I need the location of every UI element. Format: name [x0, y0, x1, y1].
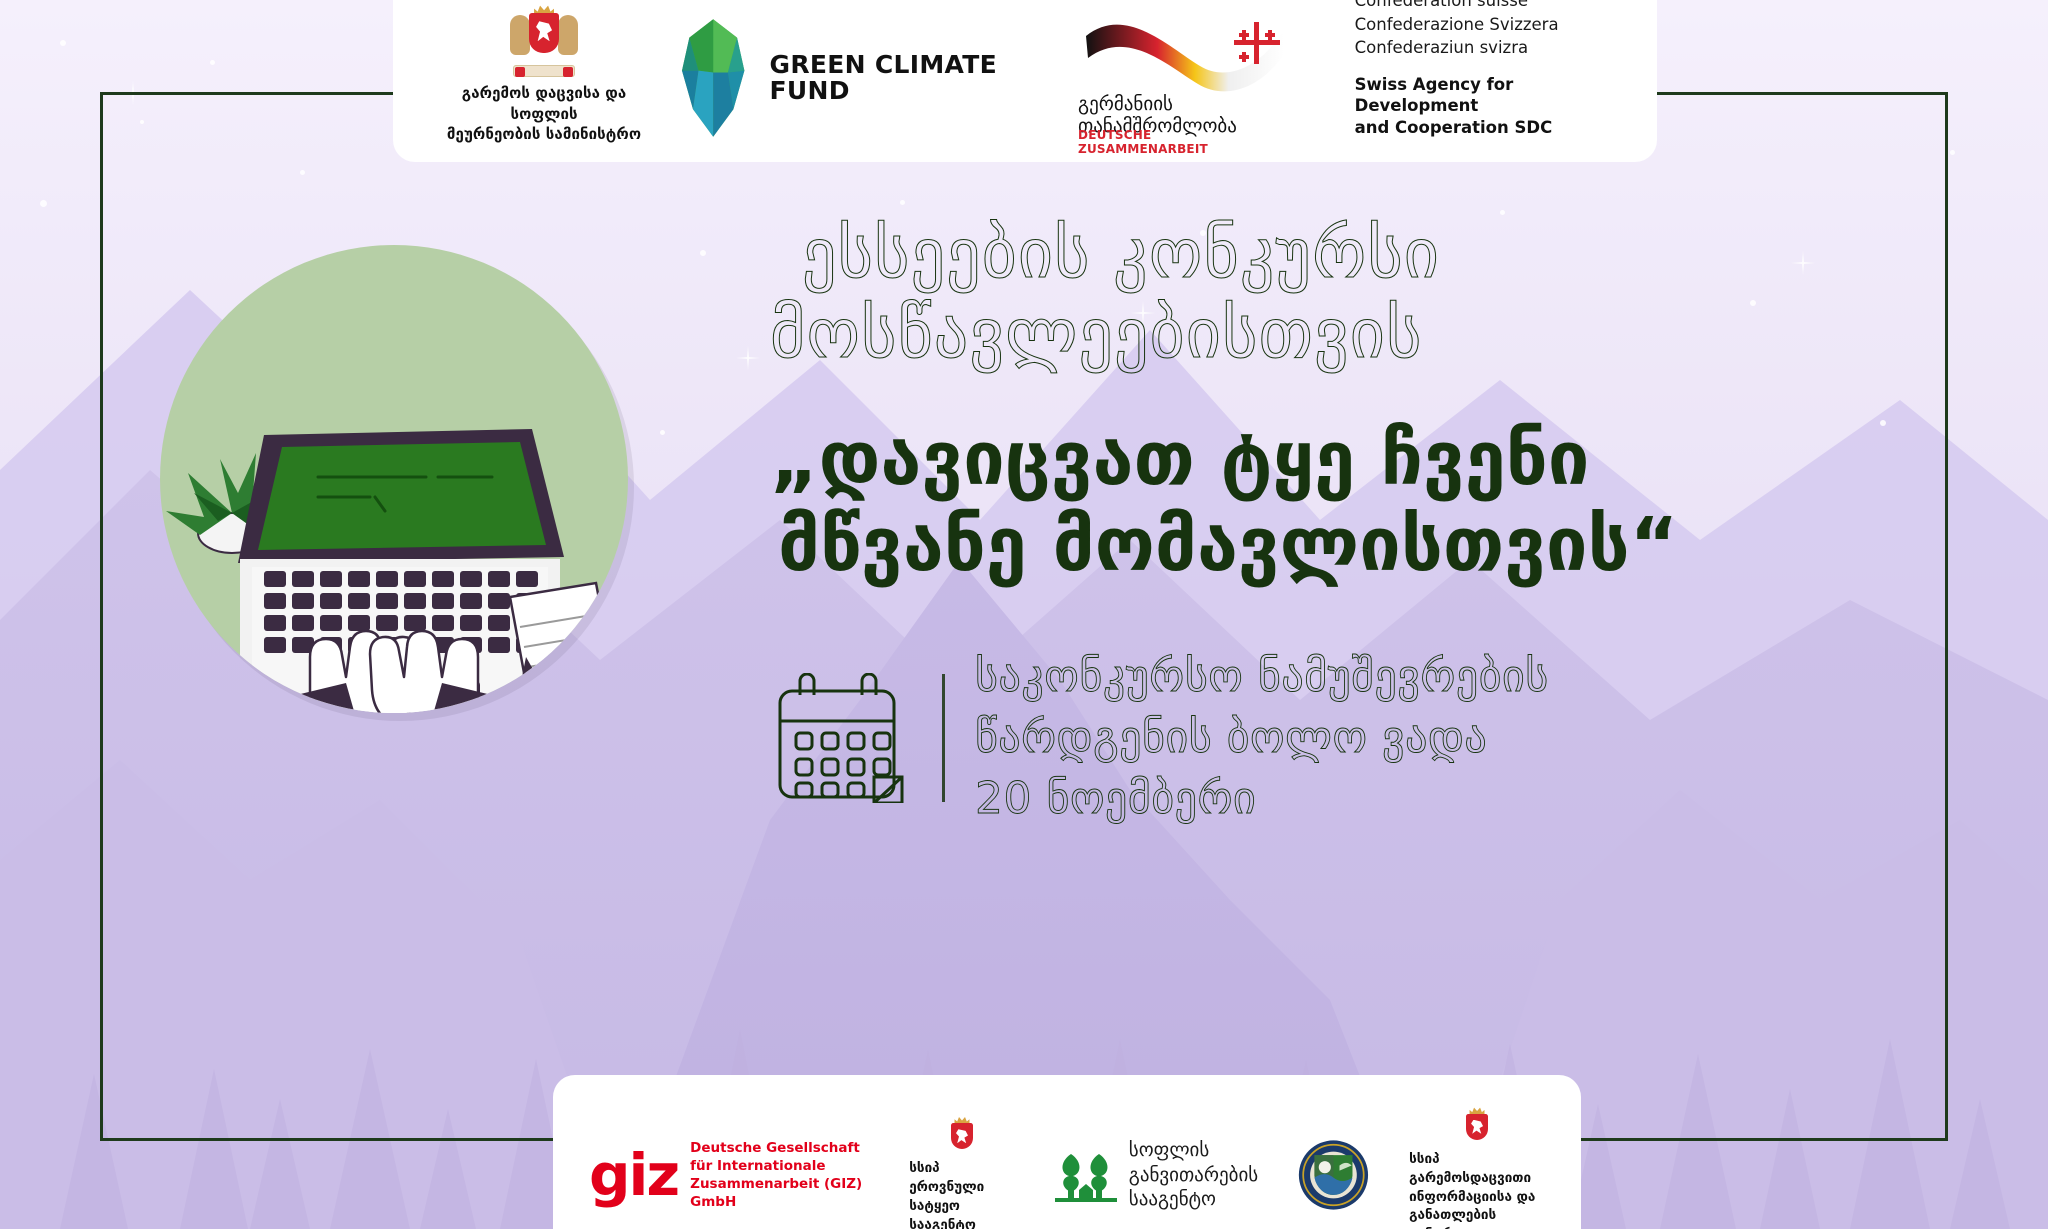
- subtitle-line-2: მოსწავლეებისთვის: [770, 295, 1920, 375]
- star-speckle: [40, 200, 47, 207]
- star-speckle: [140, 120, 144, 124]
- star-speckle: [900, 200, 905, 205]
- logo-caption: Deutsche Gesellschaft für Internationale…: [690, 1139, 869, 1212]
- swiss-language-lines: Schweizerische Eidgenossenschaft Confédé…: [1355, 0, 1615, 60]
- slogan-line-1: „დავიცვათ ტყე ჩვენი: [770, 417, 1920, 503]
- german-georgian-flag-ribbon-icon: [1084, 14, 1290, 92]
- star-speckle: [700, 250, 706, 256]
- logo-caption: GREEN CLIMATE FUND: [770, 52, 1061, 105]
- georgia-coat-of-arms-icon: [508, 3, 580, 77]
- two-trees-icon: [1055, 1148, 1117, 1202]
- logo-rural-development-agency: სოფლის განვითარების სააგენტო: [1055, 1138, 1258, 1212]
- round-seal-emblem-icon: [1298, 1134, 1369, 1216]
- vertical-divider: [942, 674, 945, 802]
- logo-swiss-agency: Schweizerische Eidgenossenschaft Confédé…: [1297, 0, 1615, 144]
- logo-environmental-information-and-education-centre: სსიპ გარემოსდაცვითი ინფორმაციისა და განა…: [1409, 1106, 1545, 1229]
- logo-caption: სსიპ ეროვნული სატყეო სააგენტო: [909, 1159, 1015, 1229]
- main-text-column: ესსეების კონკურსი მოსწავლეებისთვის „დავი…: [770, 215, 1920, 829]
- calendar-icon: [770, 673, 912, 803]
- logo-subcaption: DEUTSCHE ZUSAMMENARBEIT: [1078, 128, 1279, 156]
- logo-caption: სსიპ გარემოსდაცვითი ინფორმაციისა და განა…: [1409, 1150, 1545, 1229]
- deadline-block: საკონკურსო ნამუშევრების წარდგენის ბოლო ვ…: [770, 647, 1920, 829]
- slogan-line-2: მწვანე მომავლისთვის“: [770, 503, 1920, 589]
- logo-caption: სოფლის განვითარების სააგენტო: [1129, 1138, 1258, 1212]
- sparkle-icon: [735, 345, 761, 371]
- star-speckle: [660, 430, 665, 435]
- giz-wordmark: giz: [589, 1149, 678, 1201]
- poster-canvas: გარემოს დაცვისა და სოფლის მეურნეობის სამ…: [0, 0, 2048, 1229]
- logo-caption: გარემოს დაცვისა და სოფლის მეურნეობის სამ…: [435, 83, 653, 144]
- competition-slogan: „დავიცვათ ტყე ჩვენი მწვანე მომავლისთვის“: [770, 417, 1920, 589]
- logo-german-georgian-cooperation: გერმანიის თანამშრომლობა DEUTSCHE ZUSAMME…: [1078, 4, 1279, 144]
- deadline-text: საკონკურსო ნამუშევრების წარდგენის ბოლო ვ…: [975, 647, 1549, 829]
- star-speckle: [300, 170, 305, 175]
- notepad: [510, 583, 620, 713]
- star-speckle: [60, 40, 66, 46]
- green-gem-icon: [671, 12, 755, 144]
- sparkle-icon: [120, 80, 146, 106]
- georgia-coat-of-arms-small-icon: [945, 1115, 979, 1153]
- star-speckle: [1950, 150, 1955, 155]
- logo-ministry-of-environmental-protection: გარემოს დაცვისა და სოფლის მეურნეობის სამ…: [435, 3, 653, 144]
- pencil: [522, 657, 570, 713]
- logo-green-climate-fund: GREEN CLIMATE FUND: [671, 12, 1060, 144]
- georgia-coat-of-arms-small-icon: [1460, 1106, 1494, 1144]
- logo-environmental-agency-seal: [1298, 1134, 1369, 1216]
- subtitle-line-1: ესსეების კონკურსი: [770, 215, 1920, 295]
- footer-logo-bar: giz Deutsche Gesellschaft für Internatio…: [553, 1075, 1581, 1229]
- logo-giz: giz Deutsche Gesellschaft für Internatio…: [589, 1139, 869, 1212]
- swiss-agency-name: Swiss Agency for Development and Coopera…: [1355, 74, 1615, 138]
- laptop-illustration: [160, 245, 628, 713]
- star-speckle: [210, 60, 215, 65]
- logo-national-forestry-agency: სსიპ ეროვნული სატყეო სააგენტო: [909, 1115, 1015, 1229]
- header-logo-bar: გარემოს დაცვისა და სოფლის მეურნეობის სამ…: [393, 0, 1657, 162]
